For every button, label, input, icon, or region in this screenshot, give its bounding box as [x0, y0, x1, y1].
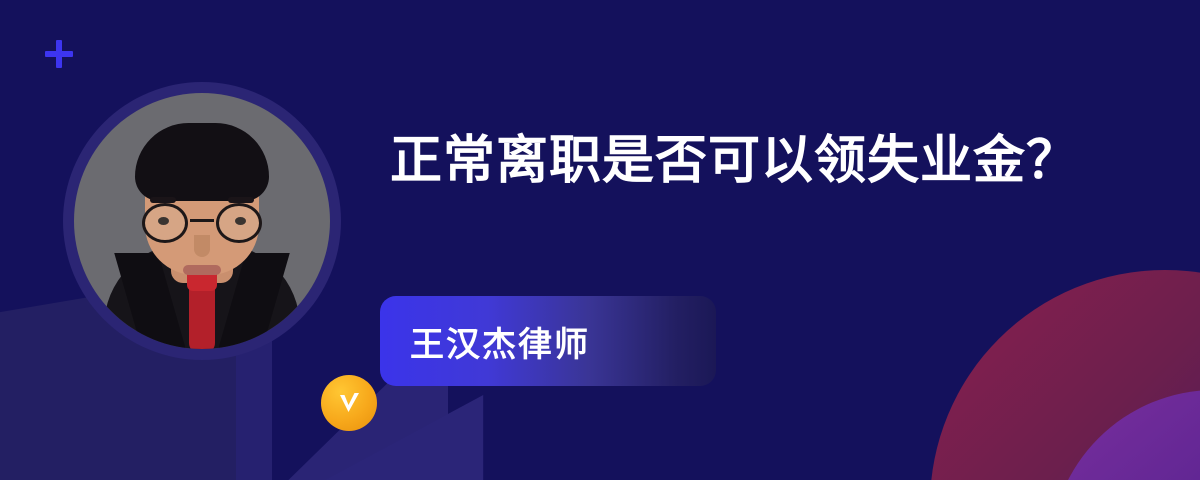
portrait-glasses-bridge [190, 219, 214, 222]
lawyer-name-label: 王汉杰律师 [410, 317, 590, 366]
plus-icon [45, 40, 73, 68]
lawyer-name-button[interactable]: 王汉杰律师 [380, 296, 716, 386]
page-title: 正常离职是否可以领失业金？ [390, 126, 1090, 196]
portrait-hair [135, 123, 269, 201]
portrait-nose [194, 235, 210, 257]
lawyer-question-banner: 正常离职是否可以领失业金？ 王汉杰律师 [0, 0, 1200, 480]
lawyer-avatar-photo [74, 93, 330, 349]
portrait-mouth [183, 265, 221, 275]
verified-check-icon [321, 375, 377, 431]
avatar [63, 82, 341, 360]
portrait-glasses-lens-right [216, 203, 262, 243]
portrait-glasses-lens-left [142, 203, 188, 243]
